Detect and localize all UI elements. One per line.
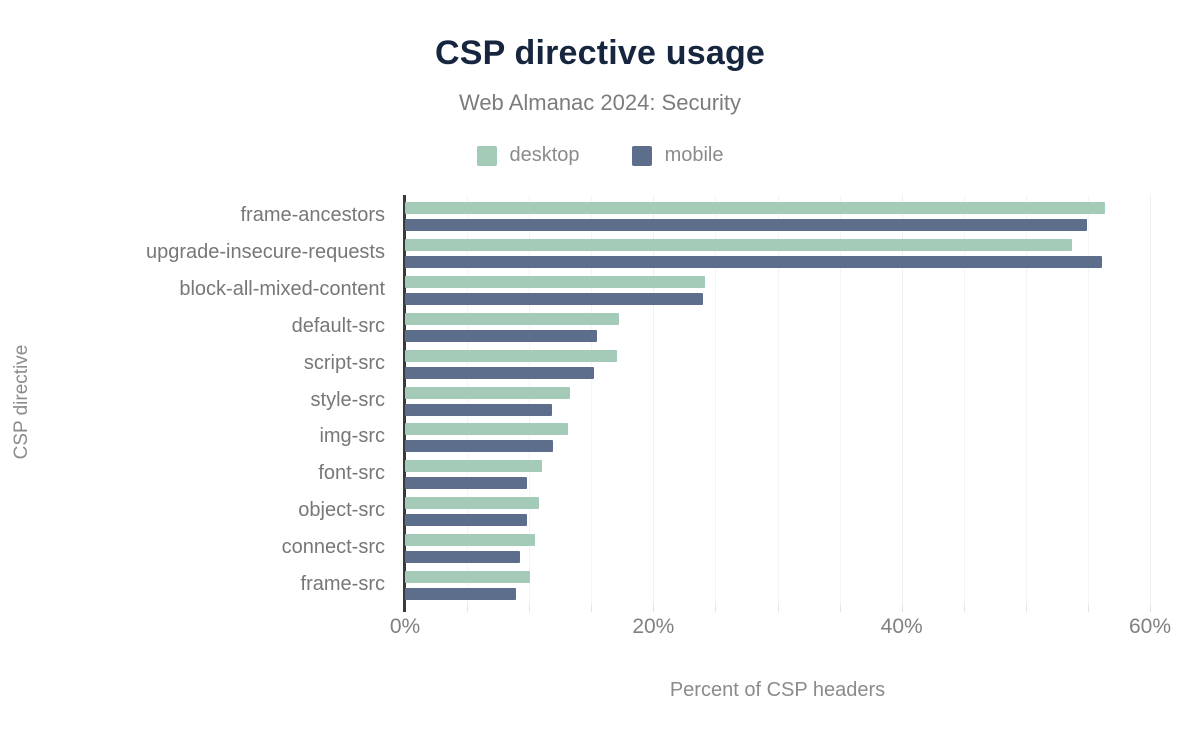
y-axis-label-default-src: default-src: [292, 315, 385, 338]
bar-group: [405, 534, 1150, 563]
bar-mobile-img-src[interactable]: [405, 440, 553, 452]
y-axis-title: CSP directive: [11, 345, 33, 460]
legend-label-desktop: desktop: [510, 144, 580, 167]
legend-swatch-mobile: [632, 146, 652, 166]
y-axis-label-font-src: font-src: [318, 462, 385, 485]
gridline: [1150, 195, 1151, 605]
x-tick-mark: [591, 605, 592, 612]
bar-desktop-style-src[interactable]: [405, 387, 570, 399]
bar-group: [405, 239, 1150, 268]
bar-desktop-connect-src[interactable]: [405, 534, 535, 546]
bar-mobile-default-src[interactable]: [405, 330, 597, 342]
y-axis-label-connect-src: connect-src: [282, 536, 385, 559]
bar-desktop-object-src[interactable]: [405, 497, 539, 509]
legend-label-mobile: mobile: [665, 144, 724, 167]
bar-mobile-script-src[interactable]: [405, 367, 594, 379]
y-axis-label-script-src: script-src: [304, 352, 385, 375]
bar-group: [405, 571, 1150, 600]
bar-mobile-connect-src[interactable]: [405, 551, 520, 563]
x-axis-ticks: 0%20%40%60%: [405, 605, 1150, 645]
bar-group: [405, 497, 1150, 526]
bar-desktop-upgrade-insecure-requests[interactable]: [405, 239, 1072, 251]
bar-desktop-block-all-mixed-content[interactable]: [405, 276, 705, 288]
bar-group: [405, 313, 1150, 342]
x-tick-mark: [1026, 605, 1027, 612]
legend-item-desktop[interactable]: desktop: [477, 144, 580, 167]
chart-figure: CSP directive usage Web Almanac 2024: Se…: [0, 0, 1200, 742]
bar-desktop-frame-src[interactable]: [405, 571, 530, 583]
bar-group: [405, 460, 1150, 489]
bar-group: [405, 276, 1150, 305]
x-tick-mark: [902, 605, 903, 612]
y-axis-category-labels: frame-ancestorsupgrade-insecure-requests…: [0, 199, 398, 605]
legend-item-mobile[interactable]: mobile: [632, 144, 724, 167]
x-tick-mark: [403, 605, 406, 612]
bar-mobile-upgrade-insecure-requests[interactable]: [405, 256, 1102, 268]
bar-desktop-font-src[interactable]: [405, 460, 542, 472]
x-axis-title: Percent of CSP headers: [405, 679, 1150, 702]
bar-desktop-frame-ancestors[interactable]: [405, 202, 1105, 214]
x-tick-mark: [1150, 605, 1151, 612]
bar-mobile-frame-ancestors[interactable]: [405, 219, 1087, 231]
x-tick-mark: [529, 605, 530, 612]
bar-desktop-default-src[interactable]: [405, 313, 619, 325]
bar-group: [405, 350, 1150, 379]
x-tick-mark: [778, 605, 779, 612]
bar-mobile-block-all-mixed-content[interactable]: [405, 293, 703, 305]
y-axis-label-frame-src: frame-src: [301, 573, 385, 596]
bar-mobile-object-src[interactable]: [405, 514, 527, 526]
chart-title: CSP directive usage: [0, 34, 1200, 73]
bar-mobile-frame-src[interactable]: [405, 588, 516, 600]
bar-desktop-img-src[interactable]: [405, 423, 568, 435]
x-tick-label-0%: 0%: [390, 615, 420, 639]
x-tick-mark: [715, 605, 716, 612]
bar-group: [405, 387, 1150, 416]
y-axis-label-block-all-mixed-content: block-all-mixed-content: [179, 278, 385, 301]
bar-group: [405, 423, 1150, 452]
chart-legend: desktopmobile: [0, 144, 1200, 167]
x-tick-mark: [653, 605, 654, 612]
bar-desktop-script-src[interactable]: [405, 350, 617, 362]
bar-group: [405, 202, 1150, 231]
x-tick-mark: [1088, 605, 1089, 612]
x-tick-label-40%: 40%: [881, 615, 923, 639]
y-axis-label-img-src: img-src: [319, 425, 385, 448]
y-axis-label-object-src: object-src: [298, 499, 385, 522]
x-tick-label-20%: 20%: [632, 615, 674, 639]
y-axis-label-frame-ancestors: frame-ancestors: [241, 204, 386, 227]
y-axis-label-style-src: style-src: [311, 389, 385, 412]
plot-area: [405, 199, 1150, 605]
x-tick-mark: [964, 605, 965, 612]
legend-swatch-desktop: [477, 146, 497, 166]
chart-subtitle: Web Almanac 2024: Security: [0, 90, 1200, 116]
x-tick-label-60%: 60%: [1129, 615, 1171, 639]
bar-mobile-style-src[interactable]: [405, 404, 552, 416]
y-axis-label-upgrade-insecure-requests: upgrade-insecure-requests: [146, 241, 385, 264]
x-tick-mark: [467, 605, 468, 612]
x-tick-mark: [840, 605, 841, 612]
bar-mobile-font-src[interactable]: [405, 477, 527, 489]
